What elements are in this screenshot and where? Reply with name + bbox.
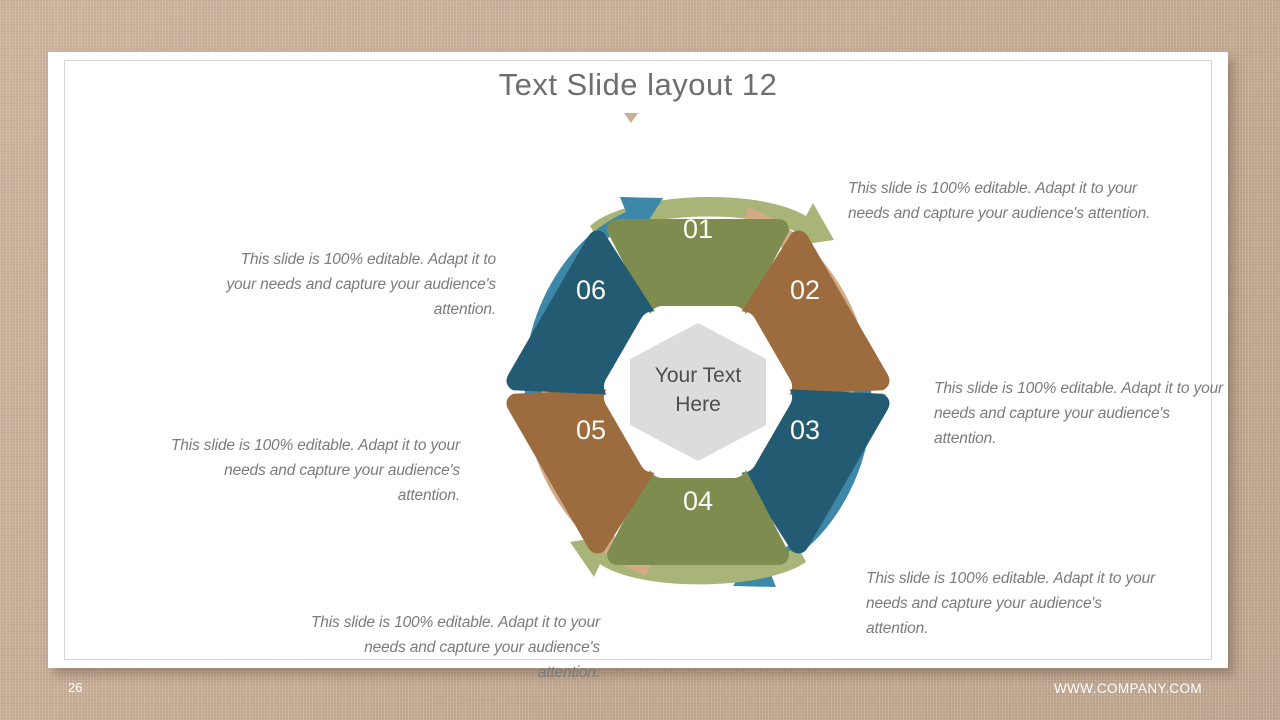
callout-02-text: This slide is 100% editable. Adapt it to… — [934, 376, 1234, 451]
center-label-line1: Your Text — [655, 364, 742, 387]
callout-04-text: This slide is 100% editable. Adapt it to… — [298, 610, 600, 685]
callout-06-text: This slide is 100% editable. Adapt it to… — [208, 247, 496, 322]
title-marker-group — [48, 109, 1228, 123]
center-label-line2: Here — [675, 393, 721, 416]
segment-03-number: 03 — [790, 415, 820, 445]
callout-01-text: This slide is 100% editable. Adapt it to… — [848, 176, 1158, 226]
callout-05-text: This slide is 100% editable. Adapt it to… — [160, 433, 460, 508]
segment-06-number: 06 — [576, 275, 606, 305]
slide-stage: Text Slide layout 12 — [0, 0, 1280, 720]
callout-03-text: This slide is 100% editable. Adapt it to… — [866, 566, 1166, 641]
footer-url: WWW.COMPANY.COM — [1054, 681, 1202, 696]
page-title: Text Slide layout 12 — [48, 67, 1228, 103]
segment-01-number: 01 — [683, 214, 713, 244]
triangle-down-icon — [624, 113, 638, 123]
segment-02-number: 02 — [790, 275, 820, 305]
center-hexagon[interactable]: Your Text Here — [630, 323, 766, 461]
page-number: 26 — [68, 680, 82, 695]
slide-card: Text Slide layout 12 — [48, 52, 1228, 668]
segment-05-number: 05 — [576, 415, 606, 445]
segment-04-number: 04 — [683, 486, 713, 516]
